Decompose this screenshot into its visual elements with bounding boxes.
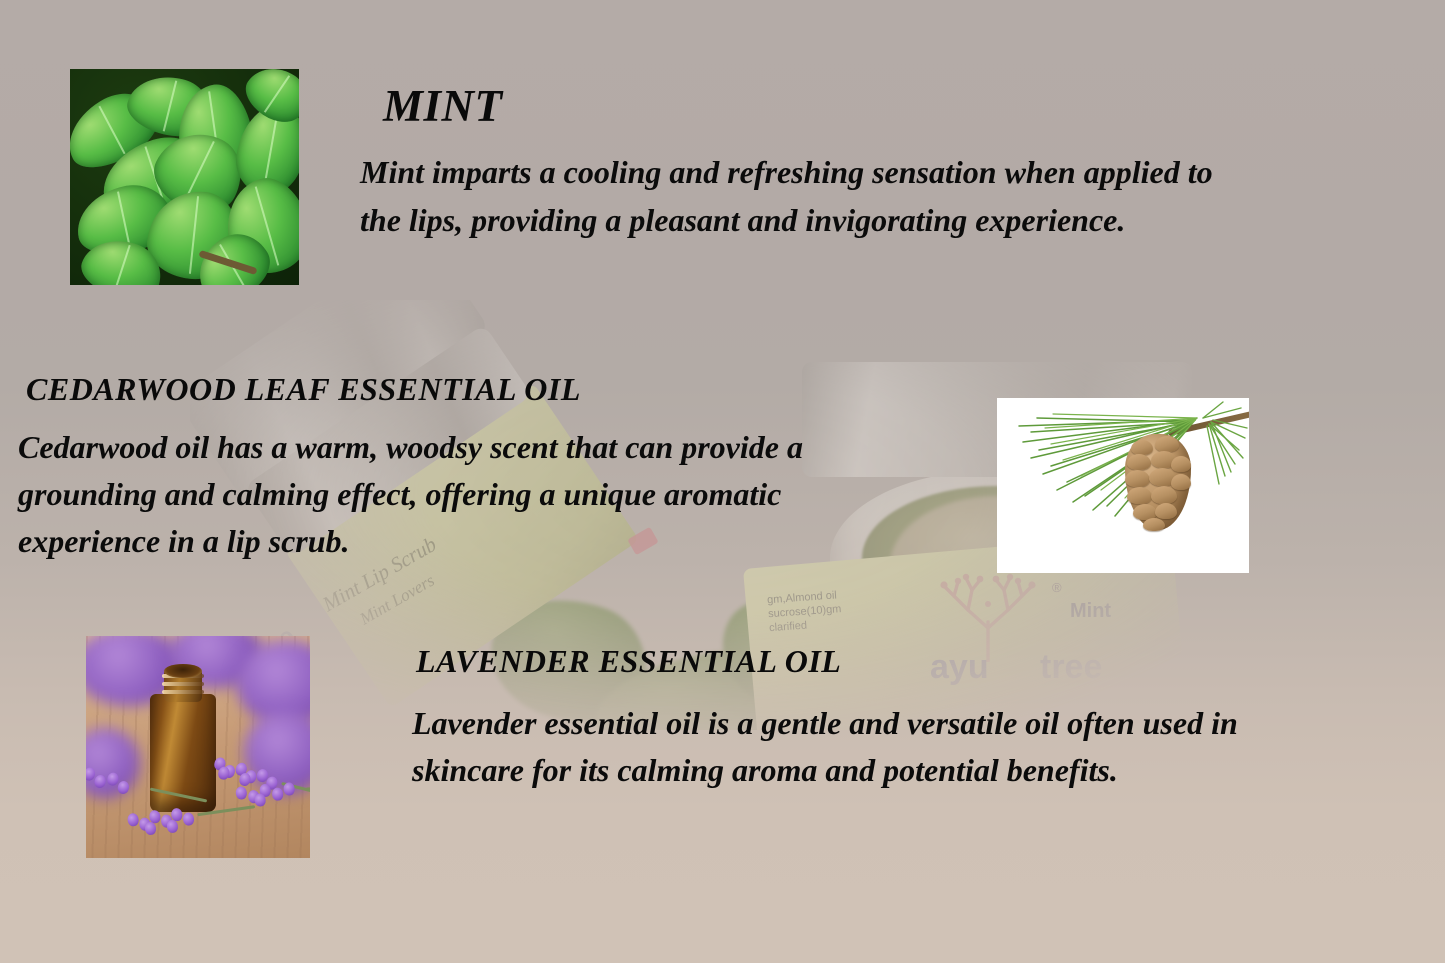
brand-name-suffix: tree xyxy=(1040,648,1102,687)
brand-name-prefix: ayu xyxy=(930,648,989,687)
cedarwood-heading: CEDARWOOD LEAF ESSENTIAL OIL xyxy=(26,371,581,408)
lavender-heading: LAVENDER ESSENTIAL OIL xyxy=(416,643,841,680)
mint-leaves-photo xyxy=(70,69,299,285)
bottle-thread xyxy=(162,690,204,694)
mint-body-text: Mint imparts a cooling and refreshing se… xyxy=(360,148,1260,244)
lavender-body-text: Lavender essential oil is a gentle and v… xyxy=(412,700,1282,794)
cedarwood-body-text: Cedarwood oil has a warm, woodsy scent t… xyxy=(18,424,928,565)
pine-cone-photo xyxy=(997,398,1249,573)
infographic-canvas: Mint Lip Scrub Mint Lovers tree ® ayu tr… xyxy=(0,0,1445,963)
mint-heading: MINT xyxy=(383,80,503,132)
bottle-mouth xyxy=(164,664,202,678)
lavender-oil-photo xyxy=(86,636,310,858)
product-short-label: Mint xyxy=(1070,600,1111,623)
bottle-thread xyxy=(162,682,204,686)
registered-trademark-mark: ® xyxy=(1052,580,1062,595)
pine-needles-group xyxy=(997,398,1249,573)
